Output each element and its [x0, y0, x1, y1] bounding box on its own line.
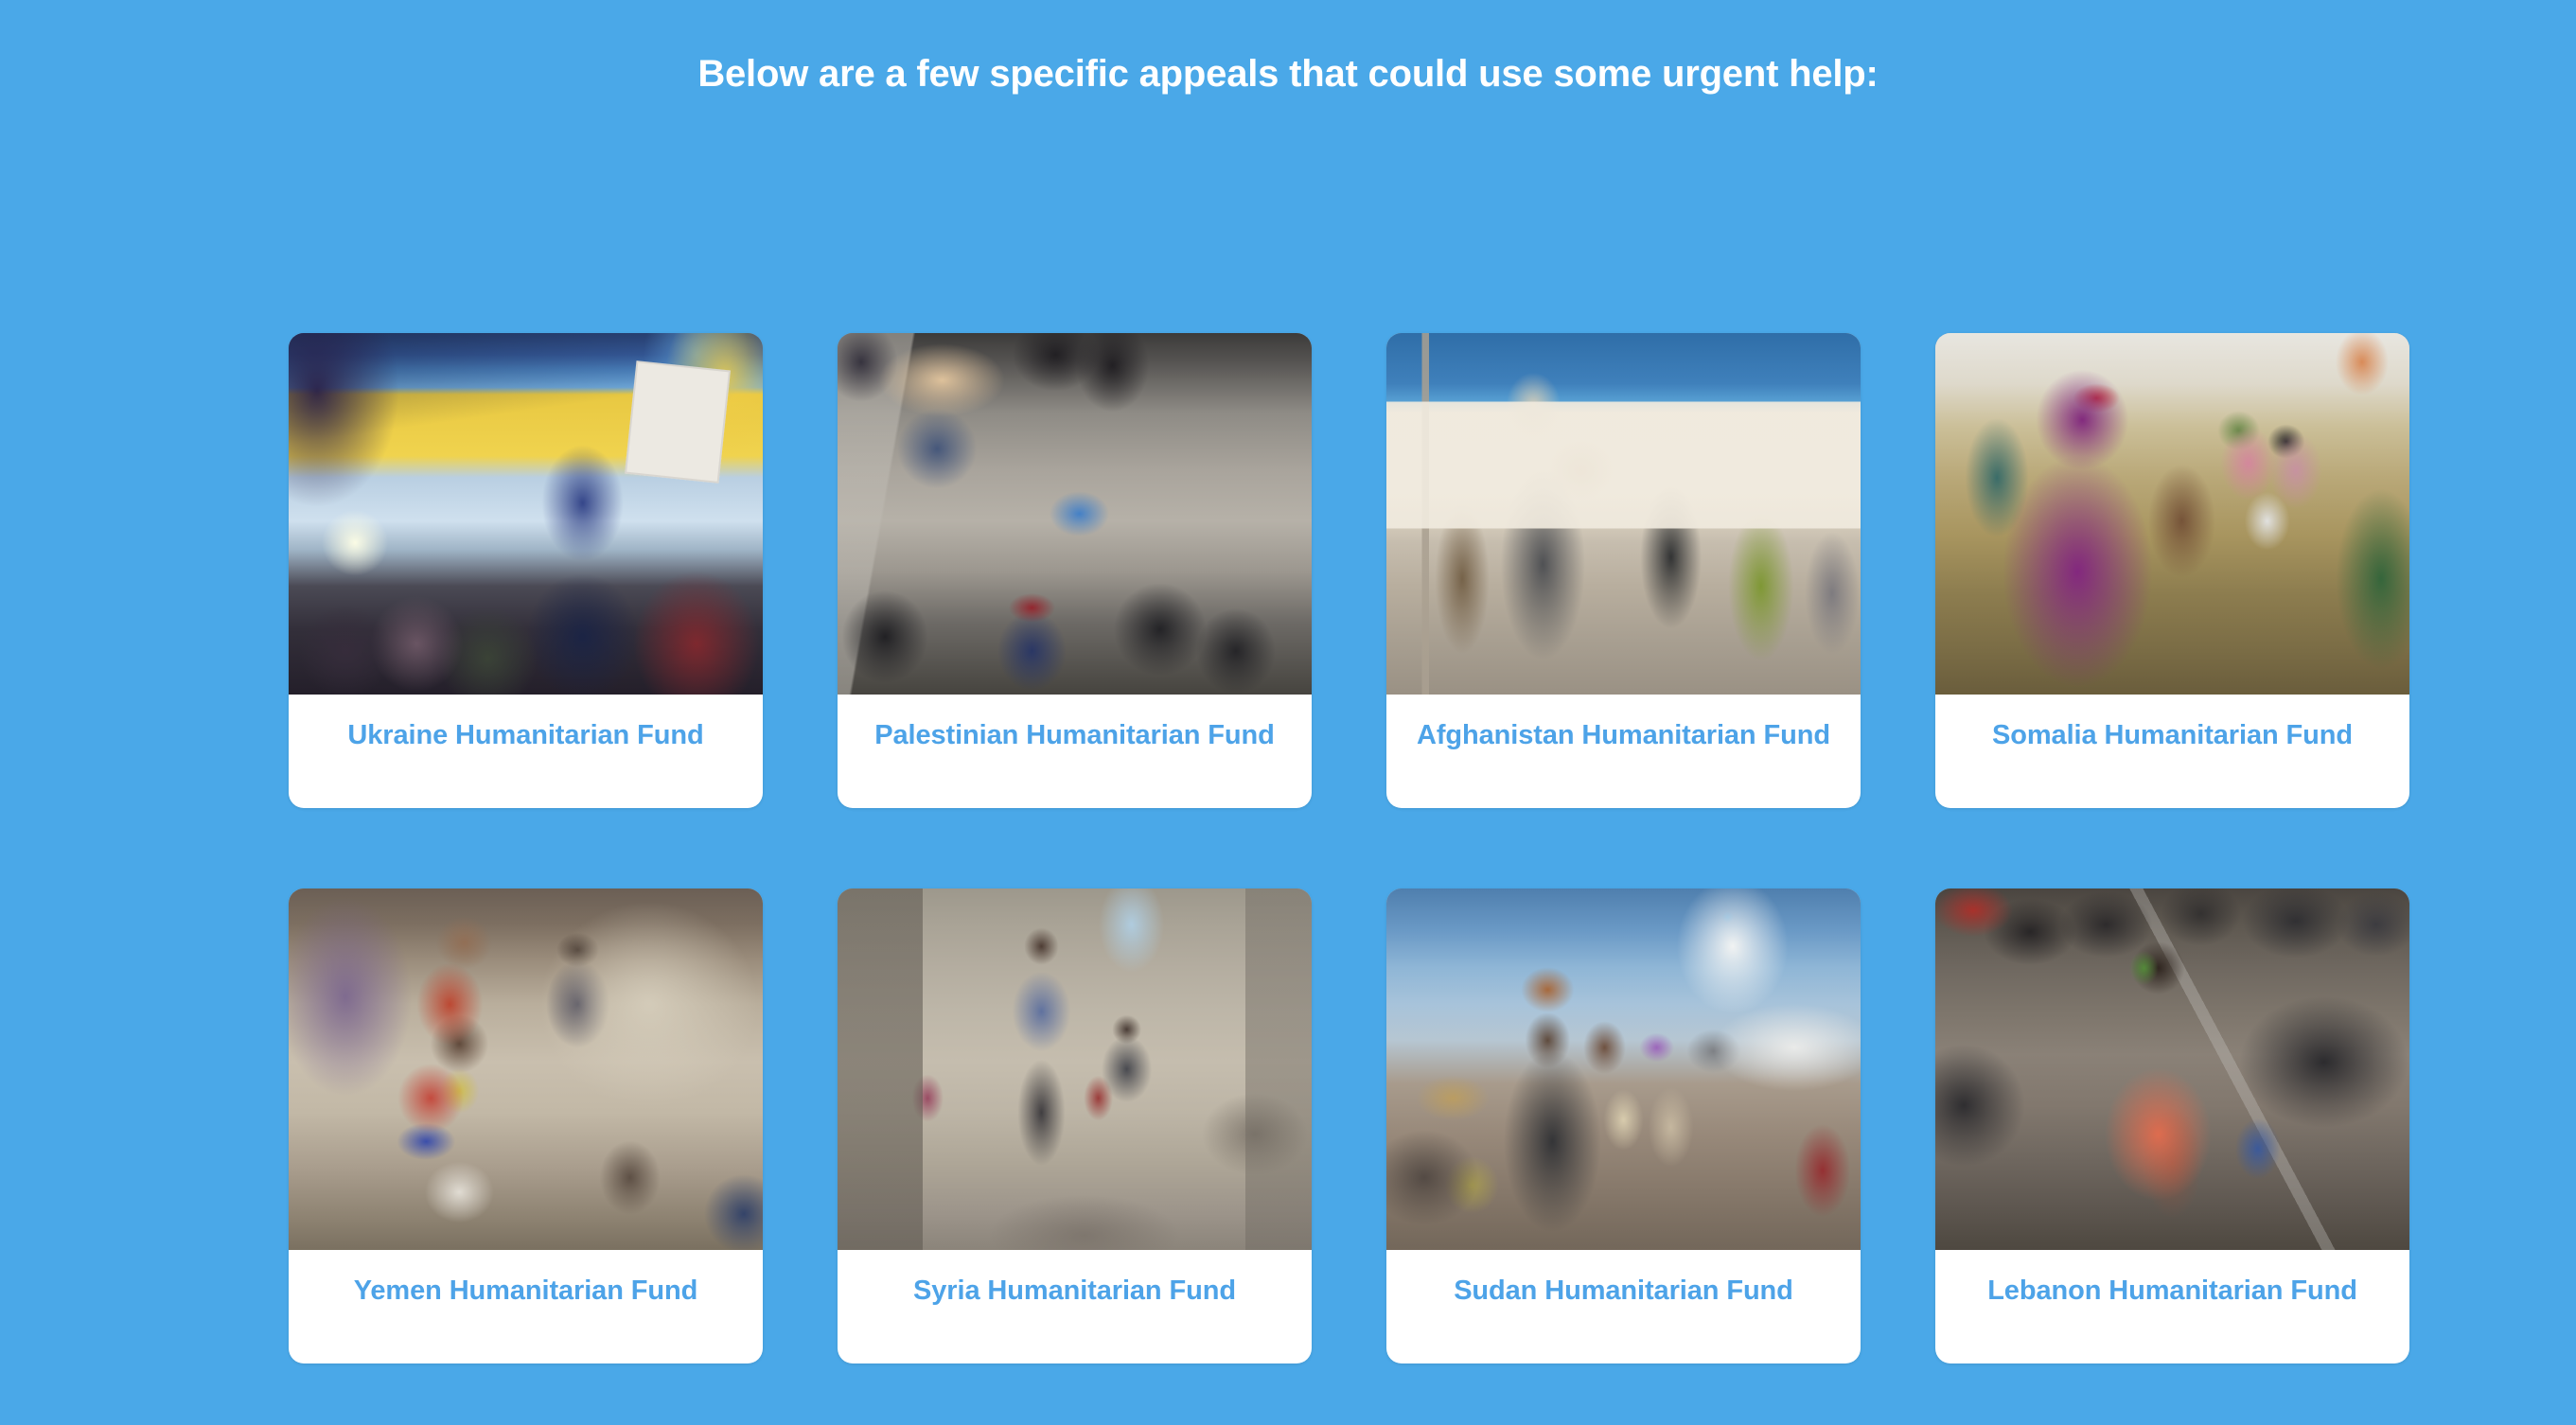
appeal-card-body: Lebanon Humanitarian Fund — [1935, 1250, 2409, 1363]
appeal-card-body: Somalia Humanitarian Fund — [1935, 695, 2409, 808]
appeal-card-media — [838, 888, 1312, 1250]
appeal-card-media — [1935, 333, 2409, 695]
appeal-card-media — [1386, 333, 1861, 695]
appeal-card-afghanistan[interactable]: Afghanistan Humanitarian Fund — [1386, 333, 1861, 808]
appeal-card-body: Syria Humanitarian Fund — [838, 1250, 1312, 1363]
page-title: Below are a few specific appeals that co… — [0, 51, 2576, 97]
appeal-card-body: Ukraine Humanitarian Fund — [289, 695, 763, 808]
appeal-card-title: Afghanistan Humanitarian Fund — [1417, 719, 1830, 751]
ukraine-appeal-photo — [289, 333, 763, 695]
appeal-card-title: Palestinian Humanitarian Fund — [874, 719, 1275, 751]
somalia-appeal-photo — [1935, 333, 2409, 695]
appeal-card-syria[interactable]: Syria Humanitarian Fund — [838, 888, 1312, 1363]
syria-appeal-photo — [838, 888, 1312, 1250]
appeal-card-media — [1386, 888, 1861, 1250]
appeal-card-title: Somalia Humanitarian Fund — [1992, 719, 2353, 751]
appeal-card-somalia[interactable]: Somalia Humanitarian Fund — [1935, 333, 2409, 808]
appeal-card-title: Yemen Humanitarian Fund — [354, 1275, 698, 1307]
afghanistan-appeal-photo — [1386, 333, 1861, 695]
appeal-card-title: Lebanon Humanitarian Fund — [1987, 1275, 2357, 1307]
yemen-appeal-photo — [289, 888, 763, 1250]
lebanon-appeal-photo — [1935, 888, 2409, 1250]
palestinian-appeal-photo — [838, 333, 1312, 695]
appeal-card-body: Sudan Humanitarian Fund — [1386, 1250, 1861, 1363]
appeal-card-body: Afghanistan Humanitarian Fund — [1386, 695, 1861, 808]
appeal-card-palestinian[interactable]: Palestinian Humanitarian Fund — [838, 333, 1312, 808]
appeal-card-title: Ukraine Humanitarian Fund — [347, 719, 703, 751]
sudan-appeal-photo — [1386, 888, 1861, 1250]
appeals-grid: Ukraine Humanitarian Fund Palestinian Hu… — [289, 333, 2429, 1363]
appeal-card-media — [289, 333, 763, 695]
appeal-card-media — [838, 333, 1312, 695]
appeal-card-body: Palestinian Humanitarian Fund — [838, 695, 1312, 808]
appeal-card-media — [289, 888, 763, 1250]
appeal-card-sudan[interactable]: Sudan Humanitarian Fund — [1386, 888, 1861, 1363]
appeal-card-yemen[interactable]: Yemen Humanitarian Fund — [289, 888, 763, 1363]
appeal-card-title: Syria Humanitarian Fund — [913, 1275, 1236, 1307]
appeal-card-media — [1935, 888, 2409, 1250]
appeal-card-body: Yemen Humanitarian Fund — [289, 1250, 763, 1363]
appeal-card-ukraine[interactable]: Ukraine Humanitarian Fund — [289, 333, 763, 808]
appeal-card-title: Sudan Humanitarian Fund — [1454, 1275, 1793, 1307]
appeal-card-lebanon[interactable]: Lebanon Humanitarian Fund — [1935, 888, 2409, 1363]
appeals-page: Below are a few specific appeals that co… — [0, 0, 2576, 1425]
